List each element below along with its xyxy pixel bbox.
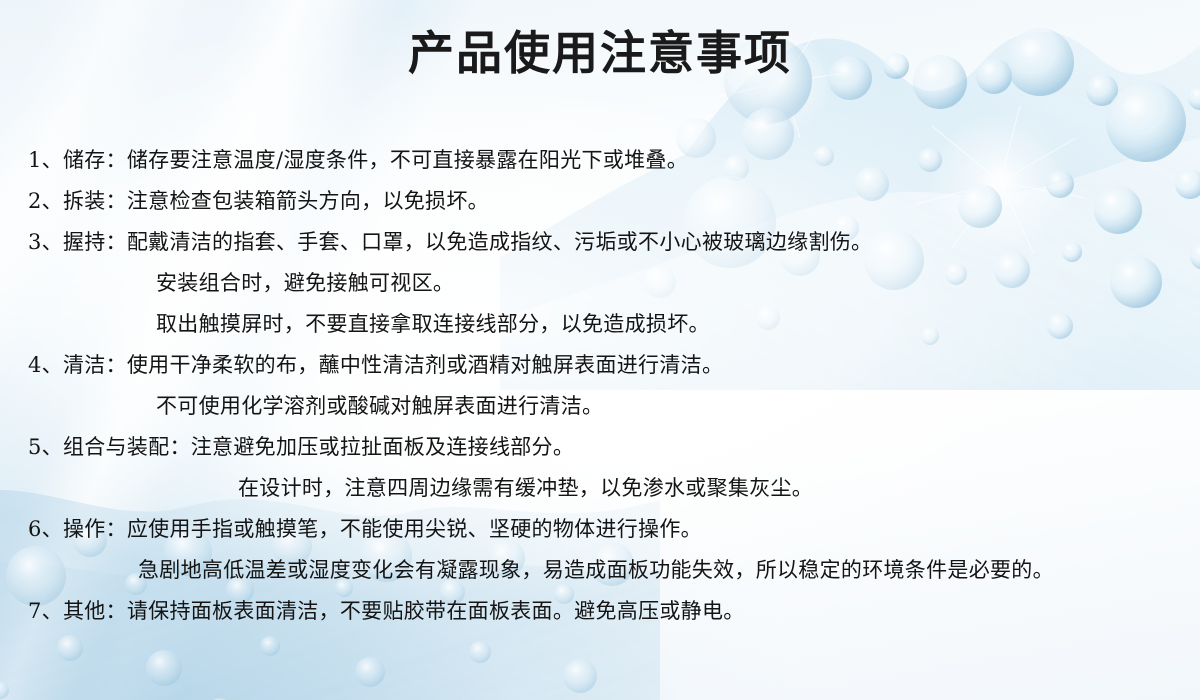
- list-item: 安装组合时，避免接触可视区。: [28, 263, 1178, 304]
- list-item: 急剧地高低温差或湿度变化会有凝露现象，易造成面板功能失效，所以稳定的环境条件是必…: [28, 550, 1178, 591]
- list-item: 6、操作：应使用手指或触摸笔，不能使用尖锐、坚硬的物体进行操作。: [28, 509, 1178, 550]
- list-item: 3、握持：配戴清洁的指套、手套、口罩，以免造成指纹、污垢或不小心被玻璃边缘割伤。: [28, 222, 1178, 263]
- page-title: 产品使用注意事项: [0, 26, 1200, 80]
- list-item: 5、组合与装配：注意避免加压或拉扯面板及连接线部分。: [28, 427, 1178, 468]
- list-item: 1、储存：储存要注意温度/湿度条件，不可直接暴露在阳光下或堆叠。: [28, 140, 1178, 181]
- slide-content: 产品使用注意事项 1、储存：储存要注意温度/湿度条件，不可直接暴露在阳光下或堆叠…: [0, 0, 1200, 700]
- list-item: 取出触摸屏时，不要直接拿取连接线部分，以免造成损坏。: [28, 304, 1178, 345]
- list-item: 7、其他：请保持面板表面清洁，不要贴胶带在面板表面。避免高压或静电。: [28, 591, 1178, 632]
- list-item: 在设计时，注意四周边缘需有缓冲垫，以免渗水或聚集灰尘。: [28, 468, 1178, 509]
- slide-root: 产品使用注意事项 1、储存：储存要注意温度/湿度条件，不可直接暴露在阳光下或堆叠…: [0, 0, 1200, 700]
- list-item: 不可使用化学溶剂或酸碱对触屏表面进行清洁。: [28, 386, 1178, 427]
- list-item: 4、清洁：使用干净柔软的布，蘸中性清洁剂或酒精对触屏表面进行清洁。: [28, 345, 1178, 386]
- list-item: 2、拆装：注意检查包装箱箭头方向，以免损坏。: [28, 181, 1178, 222]
- notes-list: 1、储存：储存要注意温度/湿度条件，不可直接暴露在阳光下或堆叠。 2、拆装：注意…: [28, 140, 1178, 632]
